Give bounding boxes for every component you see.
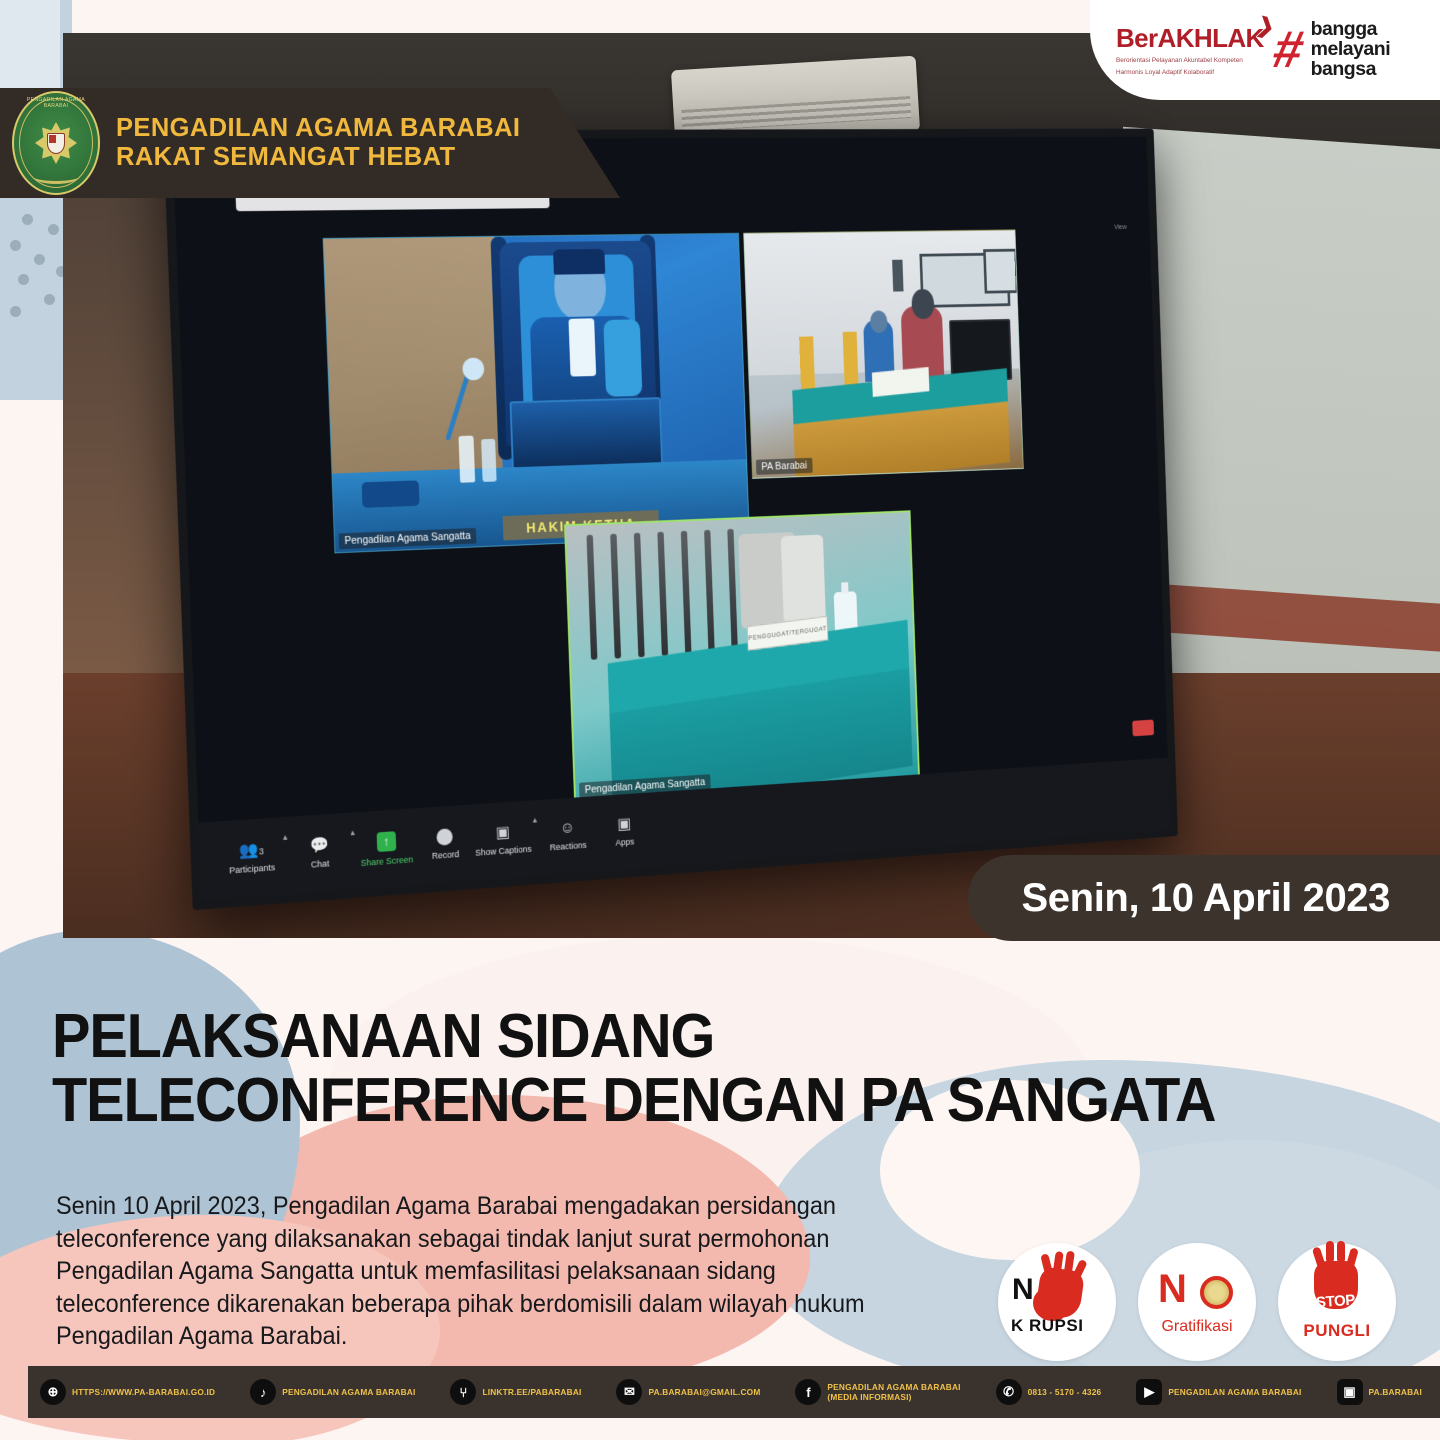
apps-icon: ▣	[617, 816, 631, 832]
apps-label: Apps	[615, 836, 634, 847]
berakhlak-subtitle-1: Berorientasi Pelayanan Akuntabel Kompete…	[1116, 56, 1264, 65]
badge-line-1: N	[1158, 1267, 1185, 1312]
video-tile-pa-barabai[interactable]: PA Barabai	[743, 229, 1023, 478]
video-tile-hakim-ketua[interactable]: HAKIM KETUA Pengadilan Agama Sangatta	[323, 233, 750, 554]
hashtag-icon: #	[1268, 24, 1308, 76]
participants-label: Participants	[229, 862, 275, 875]
organization-header-banner: PENGADILAN AGAMA BARABAI PENGADILAN AGAM…	[0, 88, 620, 198]
footer-item-website[interactable]: ⊕ HTTPS://WWW.PA-BARABAI.GO.ID	[40, 1379, 221, 1405]
org-line-2: RAKAT SEMANGAT HEBAT	[116, 143, 520, 172]
tagline-line-2: melayani	[1311, 40, 1390, 60]
email-icon: ✉	[616, 1379, 642, 1405]
television-screen: Connected to Samsung AU7700 50 TV ☐ Disc…	[163, 129, 1178, 911]
whatsapp-icon: ✆	[996, 1379, 1022, 1405]
integrity-badges: N K RUPSI N Gratifikasi STOP PUNGLI	[998, 1243, 1396, 1361]
court-seal-logo: PENGADILAN AGAMA BARABAI	[12, 91, 100, 195]
reactions-label: Reactions	[550, 840, 587, 852]
captions-caret-icon[interactable]: ▲	[531, 815, 539, 824]
footer-label: HTTPS://WWW.PA-BARABAI.GO.ID	[72, 1387, 215, 1397]
tagline-line-3: bangsa	[1311, 60, 1390, 80]
footer-label: PA.BARABAI	[1369, 1387, 1422, 1397]
participants-caret-icon[interactable]: ▲	[281, 833, 289, 842]
social-footer-bar: ⊕ HTTPS://WWW.PA-BARABAI.GO.ID ♪ PENGADI…	[28, 1366, 1440, 1418]
captions-label: Show Captions	[475, 844, 532, 858]
footer-item-linktree[interactable]: ⑂ LINKTR.EE/PABARABAI	[450, 1379, 587, 1405]
captions-icon: ▣	[496, 825, 511, 841]
video-tile-caption: PA Barabai	[756, 458, 813, 475]
headline-line-1: PELAKSANAAN SIDANG	[52, 1005, 1215, 1069]
badge-line-2: PUNGLI	[1278, 1321, 1396, 1341]
footer-label: PENGADILAN AGAMA BARABAI	[1168, 1387, 1301, 1397]
dot-pattern	[4, 210, 66, 340]
facebook-icon: f	[795, 1379, 821, 1405]
berakhlak-tick-icon: ❯	[1254, 13, 1277, 41]
share-screen-icon: ↑	[376, 831, 396, 852]
globe-icon: ⊕	[40, 1379, 66, 1405]
footer-label: LINKTR.EE/PABARABAI	[482, 1387, 581, 1397]
footer-item-instagram[interactable]: ▣ PA.BARABAI	[1337, 1379, 1428, 1405]
org-line-1: PENGADILAN AGAMA BARABAI	[116, 114, 520, 143]
badge-line-2: K RUPSI	[1011, 1316, 1083, 1336]
badge-line-1: N	[1012, 1273, 1034, 1307]
participants-icon: 👥3	[239, 842, 264, 860]
linktree-icon: ⑂	[450, 1379, 476, 1405]
courtroom-railing	[586, 528, 753, 660]
record-button[interactable]: Record	[415, 827, 474, 862]
participants-button[interactable]: 👥3 Participants	[221, 841, 283, 876]
berakhlak-logo: BerAKHLAK ❯ Berorientasi Pelayanan Akunt…	[1090, 0, 1440, 100]
prohibition-sign-icon	[1200, 1276, 1233, 1309]
footer-label: PA.BARABAI@GMAIL.COM	[648, 1387, 760, 1397]
chat-label: Chat	[311, 858, 330, 869]
berakhlak-title: BerAKHLAK ❯	[1116, 23, 1264, 54]
no-gratifikasi-badge: N Gratifikasi	[1138, 1243, 1256, 1361]
berakhlak-subtitle-2: Harmonis Loyal Adaptif Kolaboratif	[1116, 68, 1264, 77]
badge-line-2: Gratifikasi	[1138, 1318, 1256, 1336]
date-badge: Senin, 10 April 2023	[968, 855, 1440, 941]
show-captions-button[interactable]: ▣ Show Captions	[474, 823, 533, 857]
youtube-icon: ▶	[1136, 1379, 1162, 1405]
instagram-icon: ▣	[1337, 1379, 1363, 1405]
record-label: Record	[432, 849, 460, 861]
leave-meeting-button[interactable]	[1132, 720, 1154, 737]
organization-name: PENGADILAN AGAMA BARABAI RAKAT SEMANGAT …	[116, 114, 520, 172]
footer-label: PENGADILAN AGAMA BARABAI (MEDIA INFORMAS…	[827, 1382, 960, 1403]
article-body: Senin 10 April 2023, Pengadilan Agama Ba…	[56, 1190, 916, 1353]
footer-item-tiktok[interactable]: ♪ PENGADILAN AGAMA BARABAI	[250, 1379, 421, 1405]
no-korupsi-badge: N K RUPSI	[998, 1243, 1116, 1361]
share-screen-button[interactable]: ↑ Share Screen	[356, 829, 416, 867]
footer-item-whatsapp[interactable]: ✆ 0813 - 5170 - 4326	[996, 1379, 1108, 1405]
reactions-button[interactable]: ☺ Reactions	[539, 819, 597, 853]
chat-icon: 💬	[309, 837, 329, 854]
chat-caret-icon[interactable]: ▲	[349, 828, 357, 837]
bench-monitor	[510, 397, 663, 469]
view-label: View	[1114, 224, 1127, 231]
footer-item-facebook[interactable]: f PENGADILAN AGAMA BARABAI (MEDIA INFORM…	[795, 1379, 966, 1405]
chat-button[interactable]: 💬 Chat	[289, 836, 350, 871]
footer-label: PENGADILAN AGAMA BARABAI	[282, 1387, 415, 1397]
reactions-icon: ☺	[560, 820, 576, 836]
berakhlak-title-text: BerAKHLAK	[1116, 23, 1264, 53]
footer-item-email[interactable]: ✉ PA.BARABAI@GMAIL.COM	[616, 1379, 766, 1405]
apps-button[interactable]: ▣ Apps	[596, 815, 653, 849]
badge-line-1: STOP	[1315, 1292, 1355, 1312]
footer-item-youtube[interactable]: ▶ PENGADILAN AGAMA BARABAI	[1136, 1379, 1307, 1405]
bangga-melayani-bangsa-tagline: bangga melayani bangsa	[1311, 20, 1390, 80]
record-icon	[437, 828, 454, 846]
seal-text: PENGADILAN AGAMA BARABAI	[14, 97, 98, 109]
footer-label: 0813 - 5170 - 4326	[1028, 1387, 1102, 1397]
video-tile-penggugat[interactable]: PENGGUGAT/TERGUGAT Pengadilan Agama Sang…	[564, 510, 920, 803]
page-title: PELAKSANAAN SIDANG TELECONFERENCE DENGAN…	[52, 1005, 1215, 1133]
headline-line-2: TELECONFERENCE DENGAN PA SANGATA	[52, 1069, 1215, 1133]
tiktok-icon: ♪	[250, 1379, 276, 1405]
stop-pungli-badge: STOP PUNGLI	[1278, 1243, 1396, 1361]
share-screen-label: Share Screen	[361, 854, 414, 868]
